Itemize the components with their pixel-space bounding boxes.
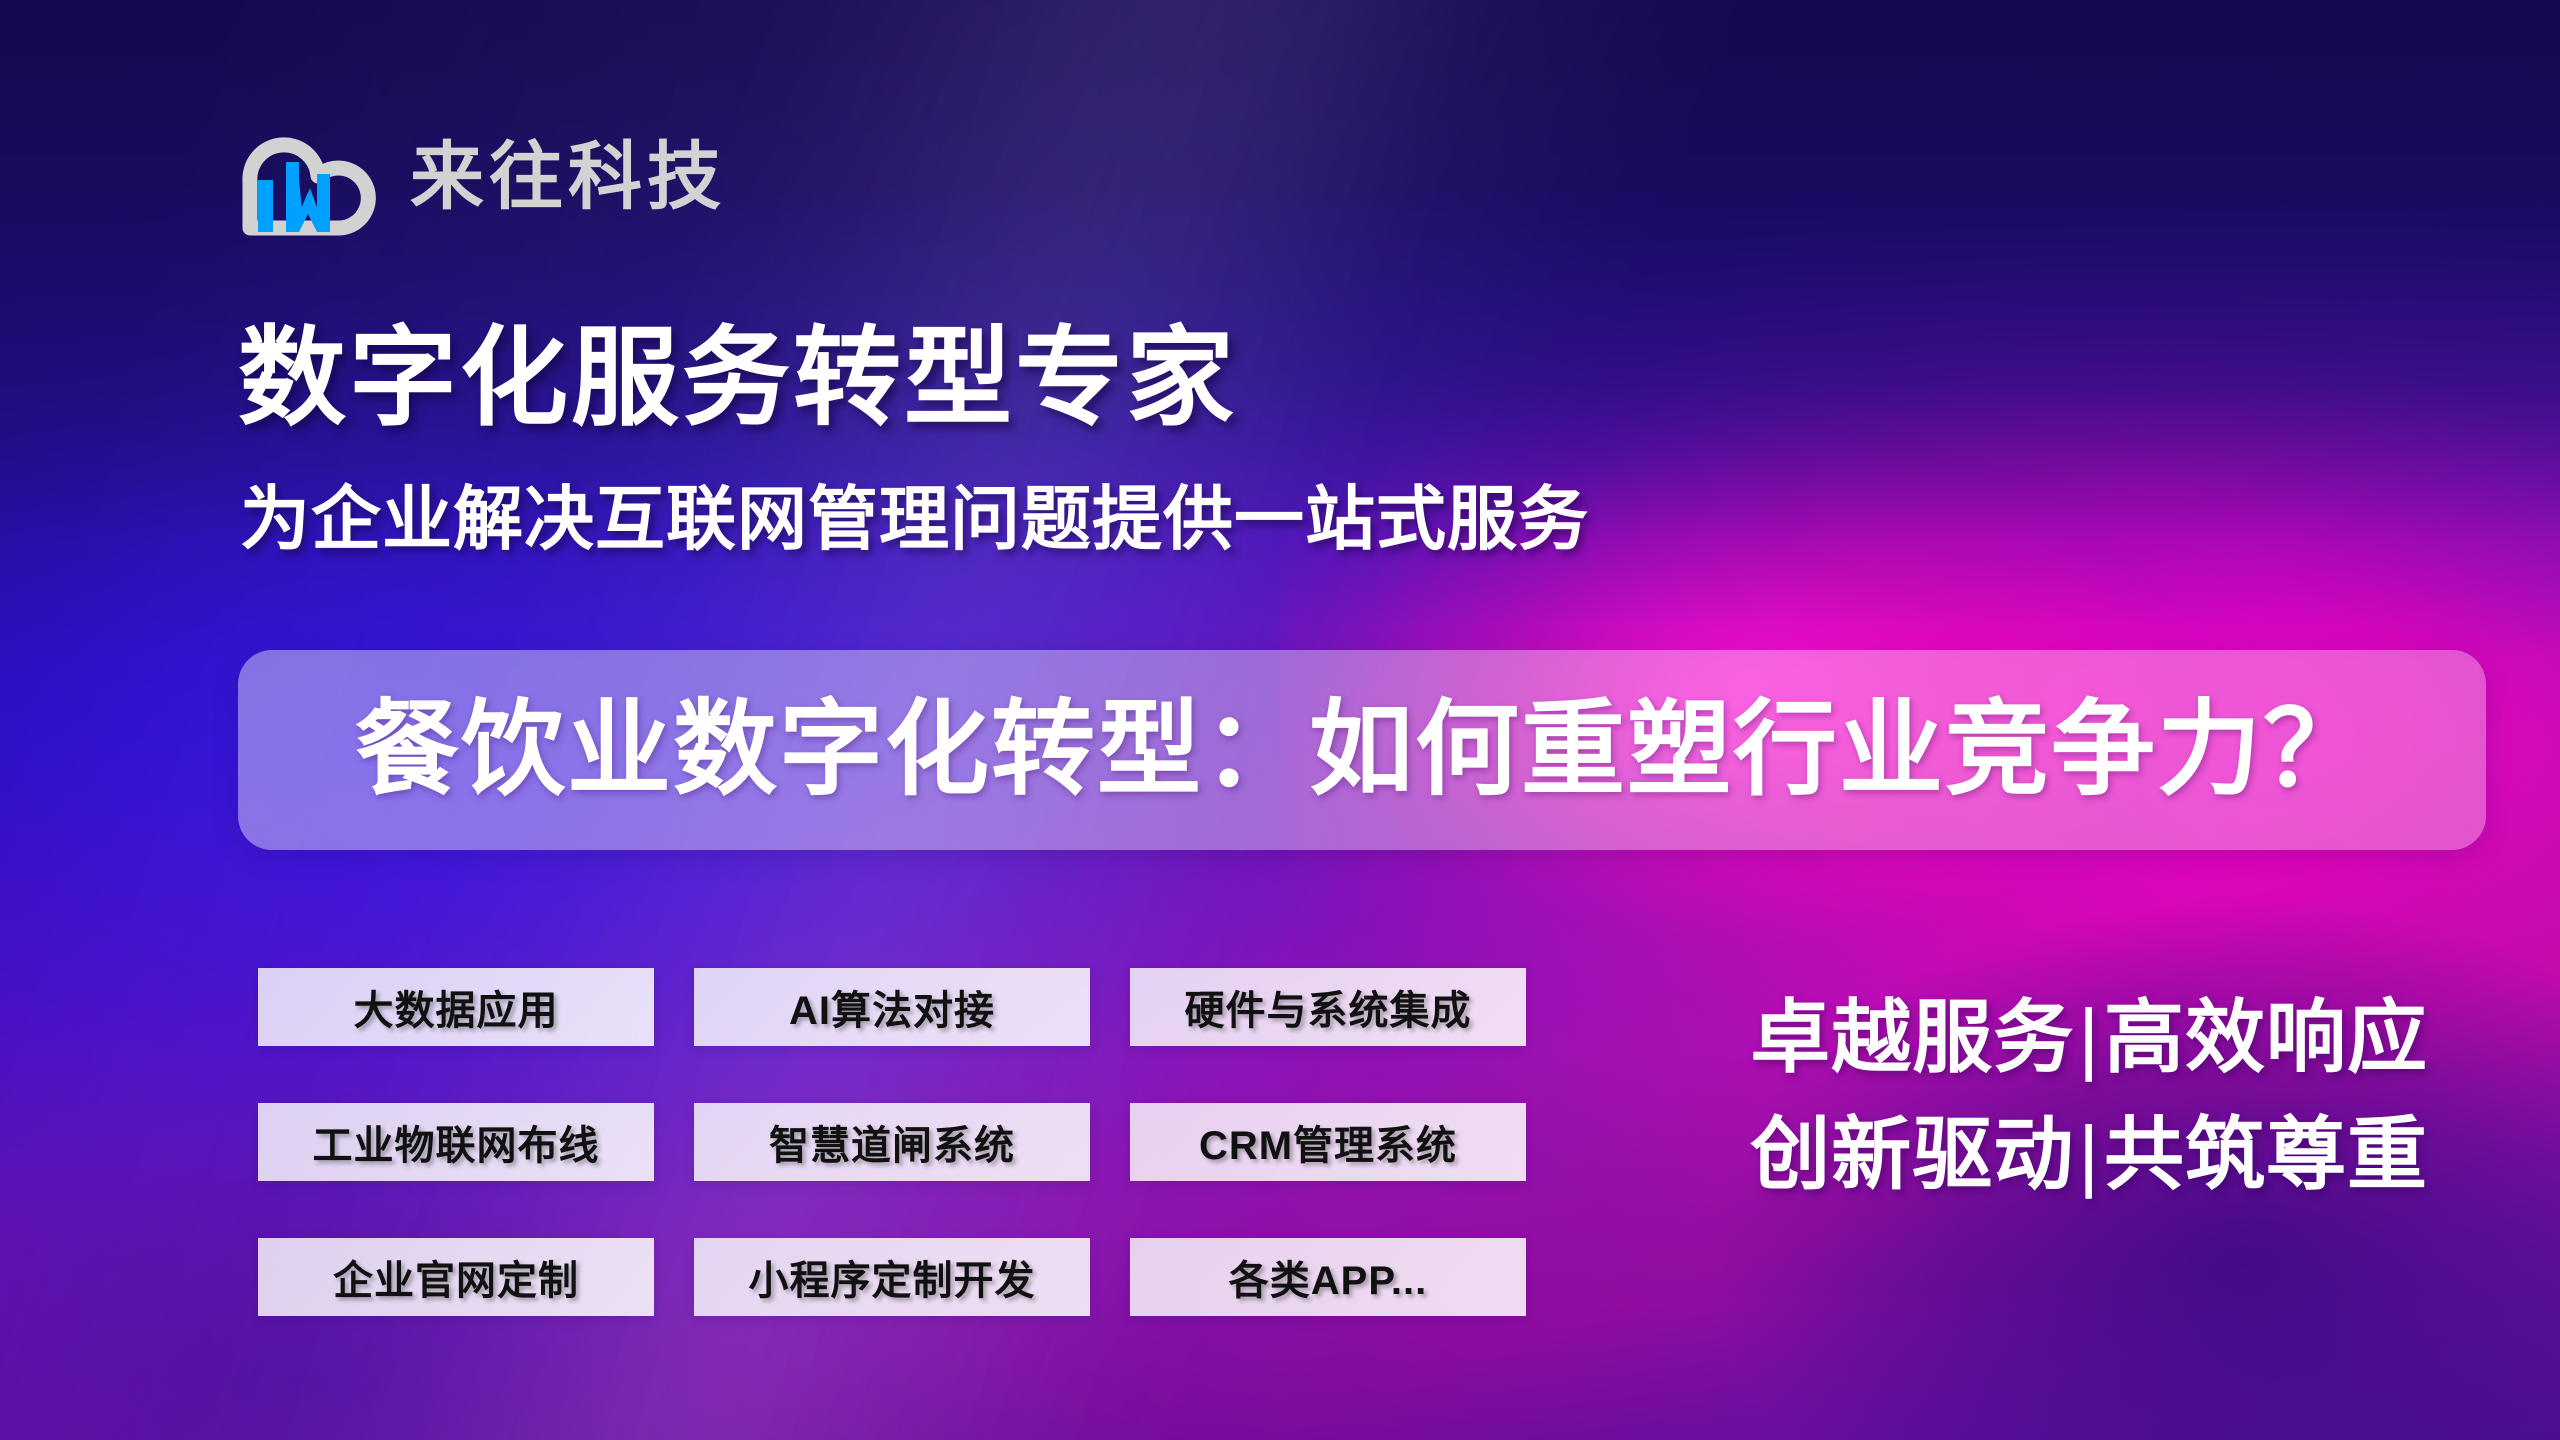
page-title: 数字化服务转型专家: [238, 318, 1237, 439]
slogan-right: 高效响应: [2104, 993, 2428, 1082]
service-tag[interactable]: CRM管理系统: [1130, 1103, 1526, 1181]
slogan-line: 创新驱动|共筑尊重: [1750, 1097, 2428, 1214]
slogan-separator: |: [2074, 980, 2104, 1097]
service-tag[interactable]: 企业官网定制: [258, 1238, 654, 1316]
service-tag[interactable]: 小程序定制开发: [694, 1238, 1090, 1316]
brand-name: 来往科技: [410, 140, 726, 214]
promo-poster: 来往科技 数字化服务转型专家 为企业解决互联网管理问题提供一站式服务 餐饮业数字…: [0, 0, 2560, 1440]
service-tag-grid: 大数据应用 AI算法对接 硬件与系统集成 工业物联网布线 智慧道闸系统 CRM管…: [258, 968, 1526, 1316]
service-tag[interactable]: 工业物联网布线: [258, 1103, 654, 1181]
slogan-separator: |: [2074, 1097, 2104, 1214]
service-tag[interactable]: AI算法对接: [694, 968, 1090, 1046]
feature-title-banner: 餐饮业数字化转型：如何重塑行业竞争力？: [238, 650, 2486, 850]
cloud-iw-logo-icon: [236, 118, 384, 236]
service-tag[interactable]: 硬件与系统集成: [1130, 968, 1526, 1046]
poster-content: 来往科技 数字化服务转型专家 为企业解决互联网管理问题提供一站式服务 餐饮业数字…: [0, 0, 2560, 1440]
slogan-left: 卓越服务: [1750, 993, 2074, 1082]
slogan-right: 共筑尊重: [2104, 1110, 2428, 1199]
service-tag[interactable]: 各类APP...: [1130, 1238, 1526, 1316]
page-subtitle: 为企业解决互联网管理问题提供一站式服务: [240, 480, 1589, 558]
slogan-left: 创新驱动: [1750, 1110, 2074, 1199]
slogan-block: 卓越服务|高效响应 创新驱动|共筑尊重: [1750, 980, 2428, 1214]
feature-title-text: 餐饮业数字化转型：如何重塑行业竞争力？: [355, 698, 2369, 802]
service-tag[interactable]: 智慧道闸系统: [694, 1103, 1090, 1181]
slogan-line: 卓越服务|高效响应: [1750, 980, 2428, 1097]
brand-lockup: 来往科技: [236, 118, 726, 236]
service-tag[interactable]: 大数据应用: [258, 968, 654, 1046]
